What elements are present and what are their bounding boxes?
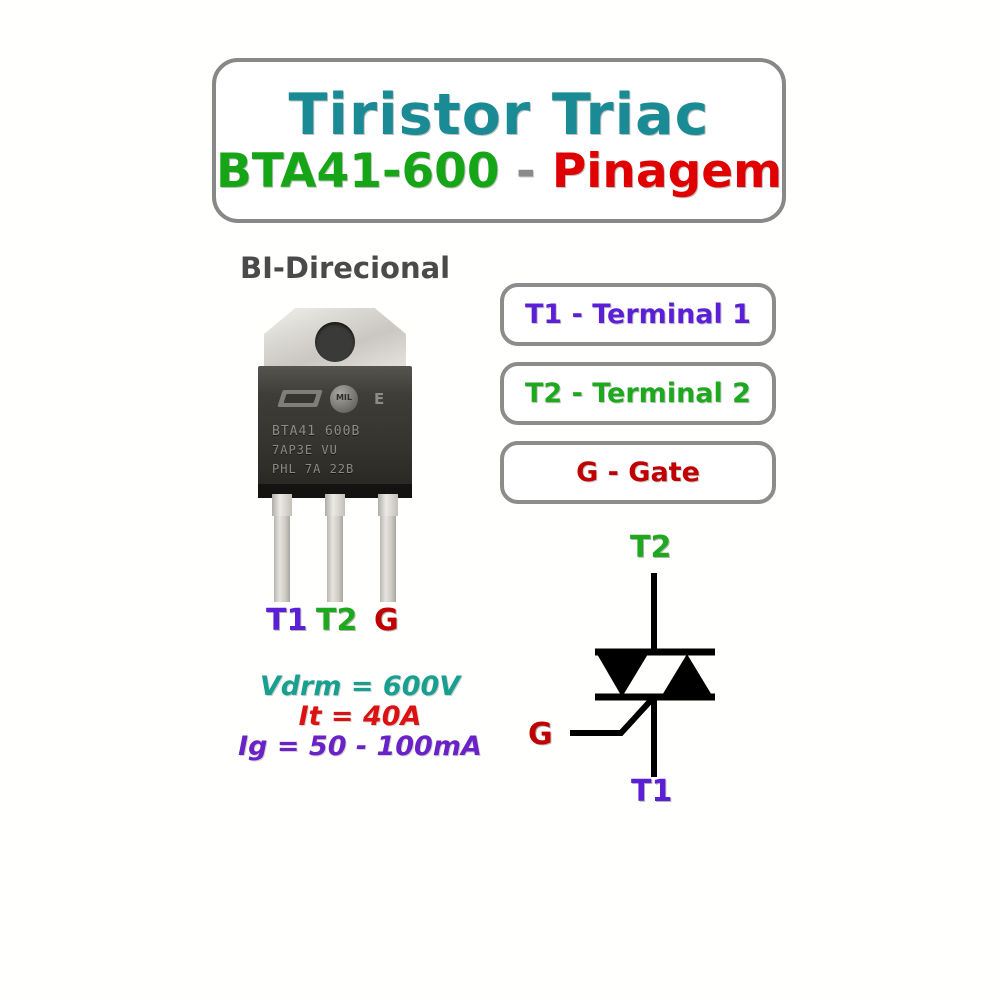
legend-item-gate: G - Gate (500, 441, 776, 504)
legend-item-t2: T2 - Terminal 2 (500, 362, 776, 425)
page-title: Tiristor Triac (289, 87, 710, 144)
package-body: MIL E BTA41 600B 7AP3E VU PHL 7A 22B (258, 366, 412, 498)
spec-ig: Ig = 50 - 100mA (230, 732, 490, 762)
right-triangle (661, 654, 713, 697)
spec-it: It = 40A (230, 702, 490, 732)
subtitle: BTA41-600 - Pinagem (216, 148, 782, 195)
legend-item-t2-label: T2 - Terminal 2 (525, 378, 751, 409)
pin-label-t1: T1 (266, 606, 307, 636)
legend-item-t1: T1 - Terminal 1 (500, 283, 776, 346)
package-lead-3 (380, 494, 396, 602)
mil-stamp-icon: MIL (330, 385, 358, 413)
pinout-labels: T1 T2 G (252, 606, 418, 642)
mil-stamp-text: MIL (330, 393, 358, 402)
legend-item-t1-label: T1 - Terminal 1 (525, 299, 751, 330)
specifications-block: Vdrm = 600V It = 40A Ig = 50 - 100mA (230, 672, 490, 763)
gate-lead (570, 697, 654, 733)
legend-item-gate-label: G - Gate (576, 457, 700, 488)
title-card: Tiristor Triac BTA41-600 - Pinagem (212, 58, 786, 223)
package-lead-1 (274, 494, 290, 602)
part-number: BTA41-600 (216, 144, 500, 199)
symbol-label-t1: T1 (631, 777, 672, 807)
poster-canvas: Tiristor Triac BTA41-600 - Pinagem BI-Di… (0, 0, 1000, 1000)
package-marking-line-1: BTA41 600B (272, 424, 406, 439)
title-separator: - (516, 144, 536, 199)
package-corner-code: E (374, 390, 385, 408)
pin-label-t2: T2 (316, 606, 357, 636)
spec-vdrm: Vdrm = 600V (230, 672, 490, 702)
package-marking-line-3: PHL 7A 22B (272, 462, 406, 476)
symbol-label-t2: T2 (630, 533, 671, 563)
pin-label-g: G (374, 606, 399, 636)
subject-label: Pinagem (552, 144, 782, 199)
left-triangle (597, 654, 648, 697)
package-lead-2 (327, 494, 343, 602)
transistor-package-image: MIL E BTA41 600B 7AP3E VU PHL 7A 22B (252, 308, 418, 602)
bidirectional-heading: BI-Direcional (240, 251, 450, 285)
st-logo-icon (277, 390, 323, 407)
triac-symbol-svg (500, 525, 800, 815)
triac-schematic-symbol: T2 T1 G (500, 525, 800, 815)
package-marking-line-2: 7AP3E VU (272, 443, 406, 457)
symbol-label-gate: G (528, 720, 553, 750)
mounting-hole-icon (315, 322, 355, 362)
